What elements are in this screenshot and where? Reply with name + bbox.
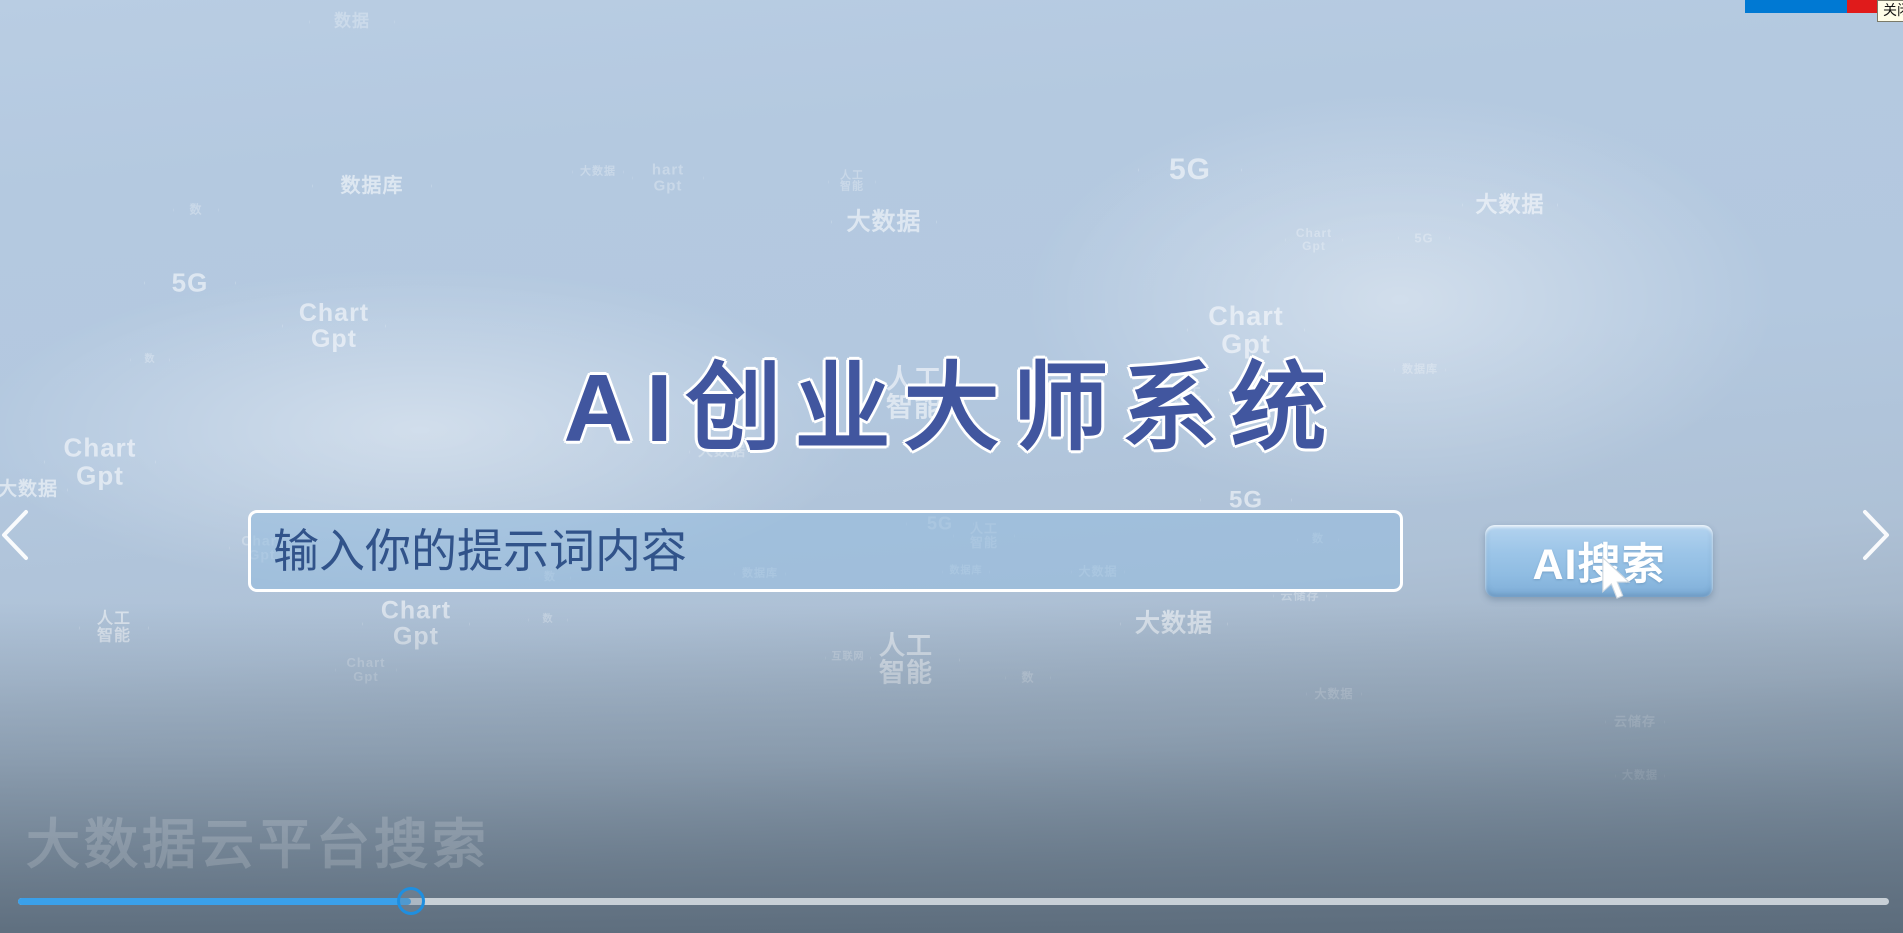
background-hexagon: 数据 — [309, 0, 395, 69]
background-hexagon: Chart Gpt — [282, 269, 386, 383]
ai-search-hero-page: 数据库数据数5G大数据hart Gpt人工 智能大数据5G大数据5GChart … — [0, 0, 1903, 933]
background-hexagon: 大数据 — [1462, 152, 1558, 258]
background-hexagon: 数 — [130, 338, 170, 382]
background-hexagon: hart Gpt — [632, 138, 704, 217]
background-bottom-fog — [0, 603, 1903, 933]
background-haze-right — [1020, 90, 1780, 510]
chrome-close-button[interactable] — [1847, 0, 1877, 13]
background-hexagon: 数 — [173, 185, 219, 236]
background-hexagon: 人工 智能 — [860, 335, 968, 454]
background-hexagon: Chart Gpt — [1285, 208, 1343, 272]
background-hexagon: 互联网 — [1042, 362, 1090, 415]
background-hexagon: 大数据 — [831, 164, 937, 281]
prompt-input[interactable] — [248, 510, 1403, 592]
background-hexagon: 人工 智能 — [828, 156, 876, 209]
background-hexagon: 人工 智能 — [1157, 366, 1219, 434]
background-hexagon: 大数据 — [1615, 749, 1665, 804]
close-tooltip: 关闭 — [1877, 0, 1903, 22]
background-hexagon: 数据库 — [312, 120, 432, 252]
background-hexagon-field: 数据库数据数5G大数据hart Gpt人工 智能大数据5G大数据5GChart … — [0, 0, 1903, 933]
background-hexagon: 大数据 — [572, 143, 624, 200]
background-hexagon: 互联网 — [825, 633, 871, 684]
background-hexagon: Chart Gpt — [1187, 265, 1305, 395]
background-hexagon: Chart Gpt — [335, 636, 397, 704]
background-hexagon: 5G — [1138, 113, 1242, 227]
watermark-text: 大数据云平台搜索 — [26, 800, 490, 879]
chevron-right-icon — [1851, 500, 1895, 570]
background-hexagon: 5G — [144, 232, 236, 333]
search-row: AI搜索 — [248, 510, 1718, 595]
background-hexagon: 数据库 — [1394, 341, 1446, 398]
carousel-prev-button[interactable] — [0, 500, 40, 570]
chevron-left-icon — [0, 500, 40, 570]
progress-slider[interactable] — [0, 887, 1903, 915]
background-hexagon: 数 — [1005, 653, 1051, 704]
carousel-next-button[interactable] — [1851, 500, 1895, 570]
chrome-blue-bar — [1745, 0, 1847, 13]
background-hexagon: 5G — [1398, 209, 1450, 266]
background-hexagon: 大数据 — [1306, 663, 1362, 725]
slider-thumb[interactable] — [397, 887, 425, 915]
background-hexagon: 数 — [528, 598, 568, 642]
background-hexagon: 云储存 — [1605, 689, 1665, 755]
background-hexagon: 大数据 — [689, 416, 755, 489]
background-hexagon: 人工 智能 — [852, 601, 960, 720]
background-hexagon: Chart Gpt — [44, 400, 156, 523]
page-title: AI创业大师系统 — [0, 330, 1903, 469]
ai-search-button[interactable]: AI搜索 — [1485, 525, 1713, 597]
slider-fill — [18, 898, 411, 905]
background-hexagon: 人工 智能 — [79, 590, 149, 667]
browser-chrome-strip: 关闭 — [0, 0, 1903, 13]
